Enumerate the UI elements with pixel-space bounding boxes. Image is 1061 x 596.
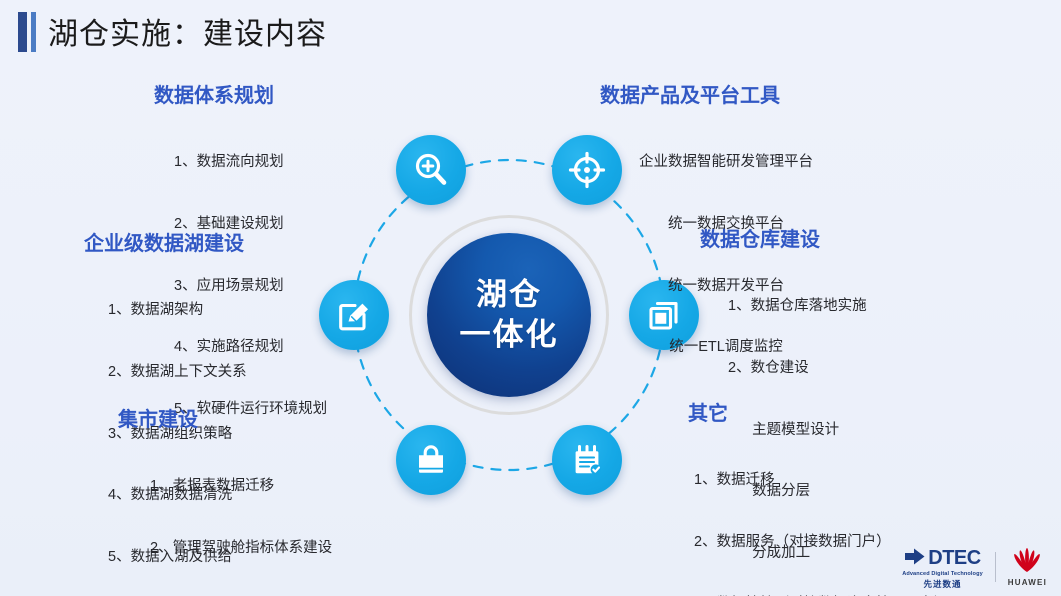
node-lake[interactable] (319, 280, 389, 350)
slide-root: 湖仓实施：建设内容 湖仓 一体化 (0, 0, 1061, 596)
hub-label-line2: 一体化 (460, 315, 559, 355)
title-accent-bar-thick (18, 12, 27, 52)
title-accent-bar-thin (31, 12, 36, 52)
block-title: 数据产品及平台工具 (600, 84, 848, 108)
dtec-chinese-name: 先进数通 (923, 580, 961, 589)
block-title: 企业级数据湖建设 (84, 232, 247, 256)
list-item: 企业数据智能研发管理平台 (604, 152, 848, 173)
slide-title-bar: 湖仓实施：建设内容 (0, 0, 1061, 62)
block-title: 集市建设 (118, 408, 332, 432)
hub-circle: 湖仓 一体化 (427, 233, 591, 397)
page-title: 湖仓实施：建设内容 (48, 9, 327, 53)
logo-divider (995, 552, 996, 582)
list-item: 2、管理驾驶舱指标体系建设 (150, 538, 332, 559)
huawei-flower-icon (1010, 547, 1044, 577)
dtec-tagline: Advanced Digital Technology (902, 572, 983, 578)
huawei-wordmark: HUAWEI (1008, 579, 1047, 587)
magnifier-plus-icon (411, 150, 451, 190)
list-item: 2、数据湖上下文关系 (108, 362, 247, 383)
dtec-arrow-icon (904, 547, 926, 570)
node-other[interactable] (552, 425, 622, 495)
block-title: 其它 (688, 402, 949, 426)
dtec-logo: DTEC Advanced Digital Technology 先进数通 (902, 547, 983, 588)
list-item: 1、数据湖架构 (108, 300, 247, 321)
huawei-logo: HUAWEI (1008, 547, 1047, 587)
block-title: 数据仓库建设 (700, 228, 867, 252)
block-lines: 1、老报表数据迁移 2、管理驾驶舱指标体系建设 3、业务报表模型 4、指标数据模… (150, 435, 332, 596)
footer-logos: DTEC Advanced Digital Technology 先进数通 HU… (902, 547, 1047, 588)
node-market[interactable] (396, 425, 466, 495)
dtec-wordmark: DTEC (928, 548, 980, 568)
edit-pencil-square-icon (334, 295, 374, 335)
list-item: 2、数仓建设 (728, 358, 867, 379)
node-planning[interactable] (396, 135, 466, 205)
list-item: 1、数据流向规划 (174, 152, 327, 173)
notepad-check-icon (567, 440, 607, 480)
block-data-mart: 集市建设 1、老报表数据迁移 2、管理驾驶舱指标体系建设 3、业务报表模型 4、… (118, 408, 332, 596)
block-title: 数据体系规划 (154, 84, 327, 108)
hub-label-line1: 湖仓 (476, 275, 542, 315)
shopping-bag-icon (411, 440, 451, 480)
list-item: 1、数据仓库落地实施 (728, 296, 867, 317)
list-item: 1、数据迁移 (694, 470, 949, 491)
list-item: 1、老报表数据迁移 (150, 476, 332, 497)
